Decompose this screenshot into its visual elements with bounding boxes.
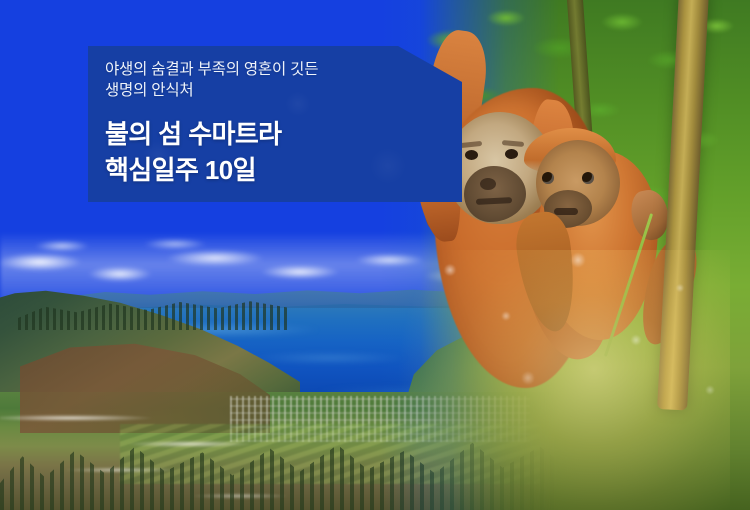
banner-title: 불의 섬 수마트라 핵심일주 10일 — [105, 116, 450, 188]
baby-orangutan-eye-right — [582, 172, 594, 184]
mother-orangutan-nose — [480, 178, 496, 190]
headline-panel-content: 야생의 숨결과 부족의 영혼이 깃든 생명의 안식처 불의 섬 수마트라 핵심일… — [105, 59, 450, 188]
banner-subtitle: 야생의 숨결과 부족의 영혼이 깃든 생명의 안식처 — [105, 59, 450, 101]
mother-orangutan-eye-left — [465, 150, 478, 160]
mother-orangutan-eye-right — [505, 149, 518, 159]
baby-orangutan-mouth — [554, 208, 578, 215]
baby-orangutan-eye-left — [542, 172, 554, 184]
headline-panel: 야생의 숨결과 부족의 영혼이 깃든 생명의 안식처 불의 섬 수마트라 핵심일… — [88, 46, 462, 202]
travel-banner[interactable]: 야생의 숨결과 부족의 영혼이 깃든 생명의 안식처 불의 섬 수마트라 핵심일… — [0, 0, 750, 510]
